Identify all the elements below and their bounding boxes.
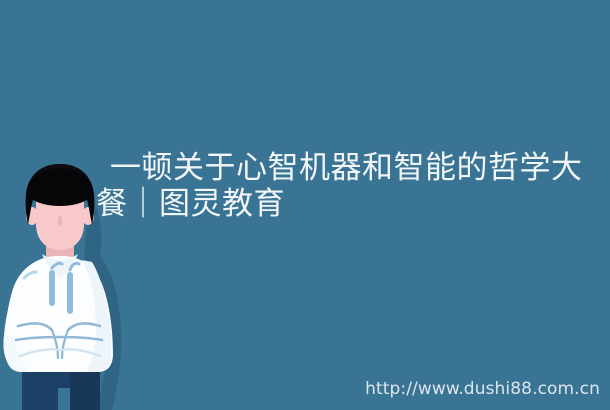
page-title: 一顿关于心智机器和智能的哲学大餐｜图灵教育 — [96, 150, 606, 222]
head-group — [26, 164, 95, 250]
pants-group — [22, 368, 100, 410]
title-block: 一顿关于心智机器和智能的哲学大餐｜图灵教育 — [96, 150, 606, 222]
watermark-url: http://www.dushi88.com.cn — [365, 379, 600, 399]
cover-image-canvas: 一顿关于心智机器和智能的哲学大餐｜图灵教育 http://www.dushi88… — [0, 0, 610, 410]
hoodie-group — [4, 254, 114, 372]
